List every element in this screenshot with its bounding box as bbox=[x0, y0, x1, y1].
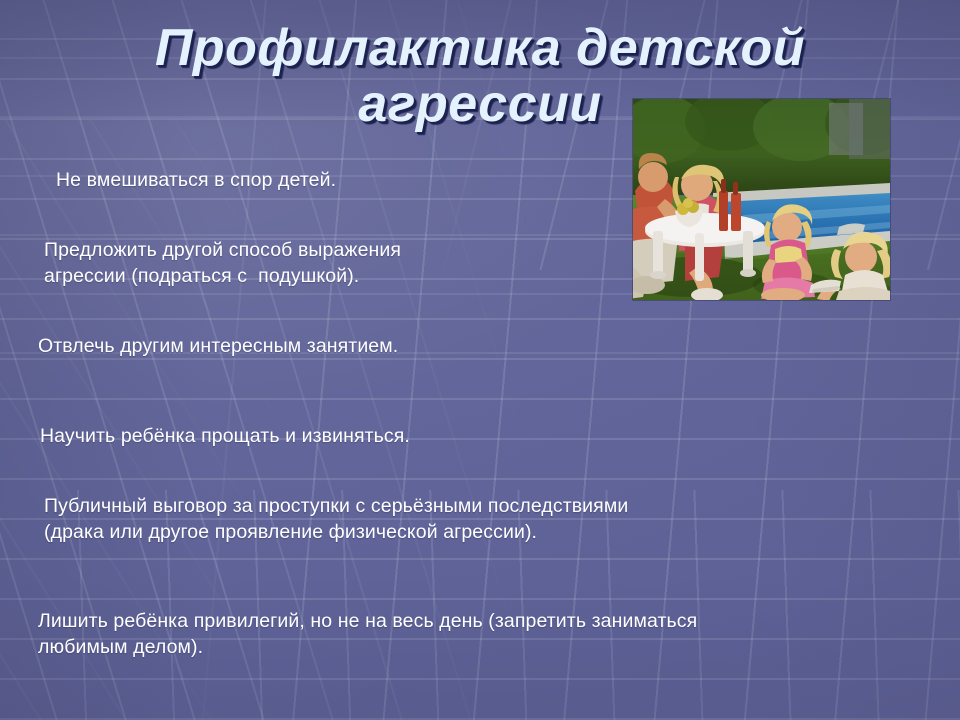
bullet-text-5: Публичный выговор за проступки с серьёзн… bbox=[44, 494, 628, 546]
family-by-pool-photo bbox=[633, 99, 890, 300]
photo-illustration bbox=[633, 99, 890, 300]
bullet-text-1: Не вмешиваться в спор детей. bbox=[56, 168, 336, 194]
bullet-text-4: Научить ребёнка прощать и извиняться. bbox=[40, 424, 410, 450]
bullet-text-2: Предложить другой способ выражения агрес… bbox=[44, 238, 401, 290]
presentation-slide: Профилактика детской агрессии bbox=[0, 0, 960, 720]
bullet-text-6: Лишить ребёнка привилегий, но не на весь… bbox=[38, 609, 697, 661]
bullet-text-3: Отвлечь другим интересным занятием. bbox=[38, 334, 398, 360]
